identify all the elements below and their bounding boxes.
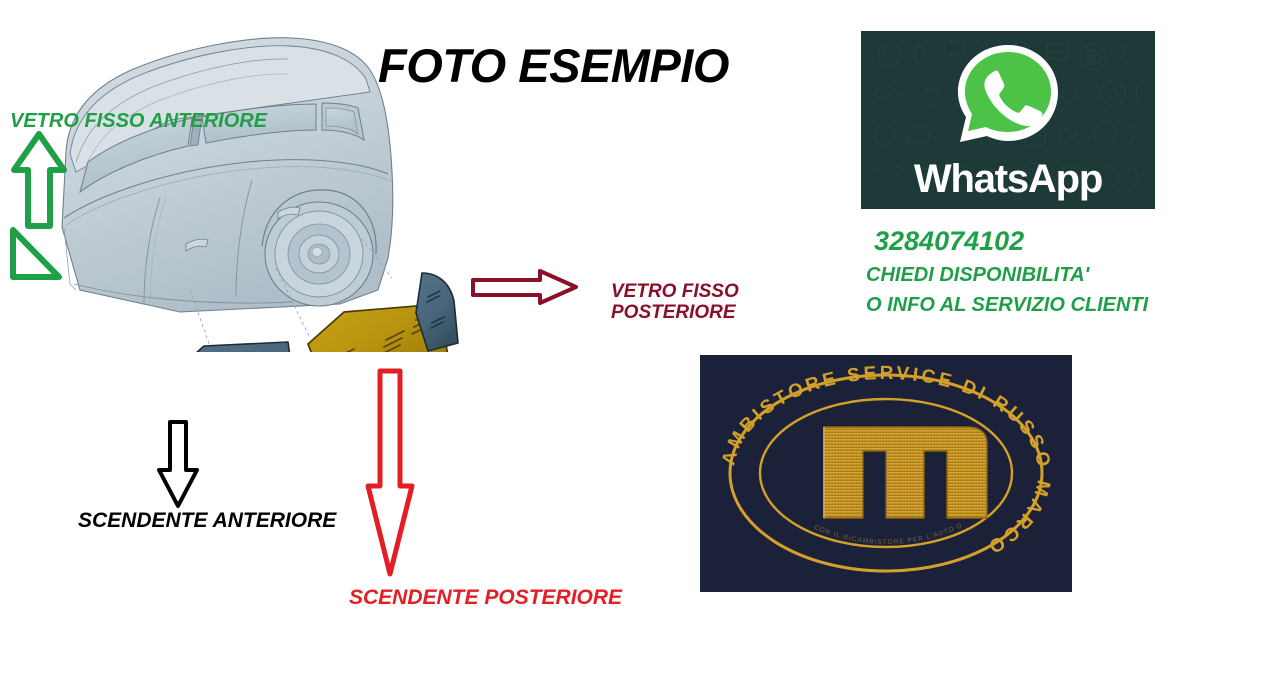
car-body-outline xyxy=(62,38,393,312)
whatsapp-icon xyxy=(948,39,1068,155)
screenshot-canvas: 14 16 17 xyxy=(0,0,1264,678)
label-vetro-fisso-anteriore: VETRO FISSO ANTERIORE xyxy=(10,110,267,132)
contact-line-1: CHIEDI DISPONIBILITA' xyxy=(866,264,1089,287)
label-vfp-line2: POSTERIORE xyxy=(611,302,739,323)
whatsapp-banner: WhatsApp xyxy=(861,31,1155,209)
contact-line-2: O INFO AL SERVIZIO CLIENTI xyxy=(866,294,1148,317)
label-vfp-line1: VETRO FISSO xyxy=(611,281,739,302)
brand-logo-icon: MRICAMBISTORE SERVICE DI RUSSO MARCO AL … xyxy=(700,355,1072,592)
black-down-arrow-icon xyxy=(155,418,201,510)
whatsapp-wordmark: WhatsApp xyxy=(861,157,1155,202)
brand-monogram xyxy=(824,427,987,518)
part-14-front-door-glass xyxy=(170,342,294,352)
page-title: FOTO ESEMPIO xyxy=(378,38,729,93)
brand-logo-banner: MRICAMBISTORE SERVICE DI RUSSO MARCO AL … xyxy=(700,355,1072,592)
label-scendente-posteriore: SCENDENTE POSTERIORE xyxy=(349,586,622,610)
label-vetro-fisso-posteriore: VETRO FISSO POSTERIORE xyxy=(611,281,739,324)
phone-number: 3284074102 xyxy=(874,226,1024,257)
red-down-arrow-icon xyxy=(364,368,416,580)
label-scendente-anteriore: SCENDENTE ANTERIORE xyxy=(78,509,336,533)
dark-red-right-arrow-icon xyxy=(470,268,580,308)
